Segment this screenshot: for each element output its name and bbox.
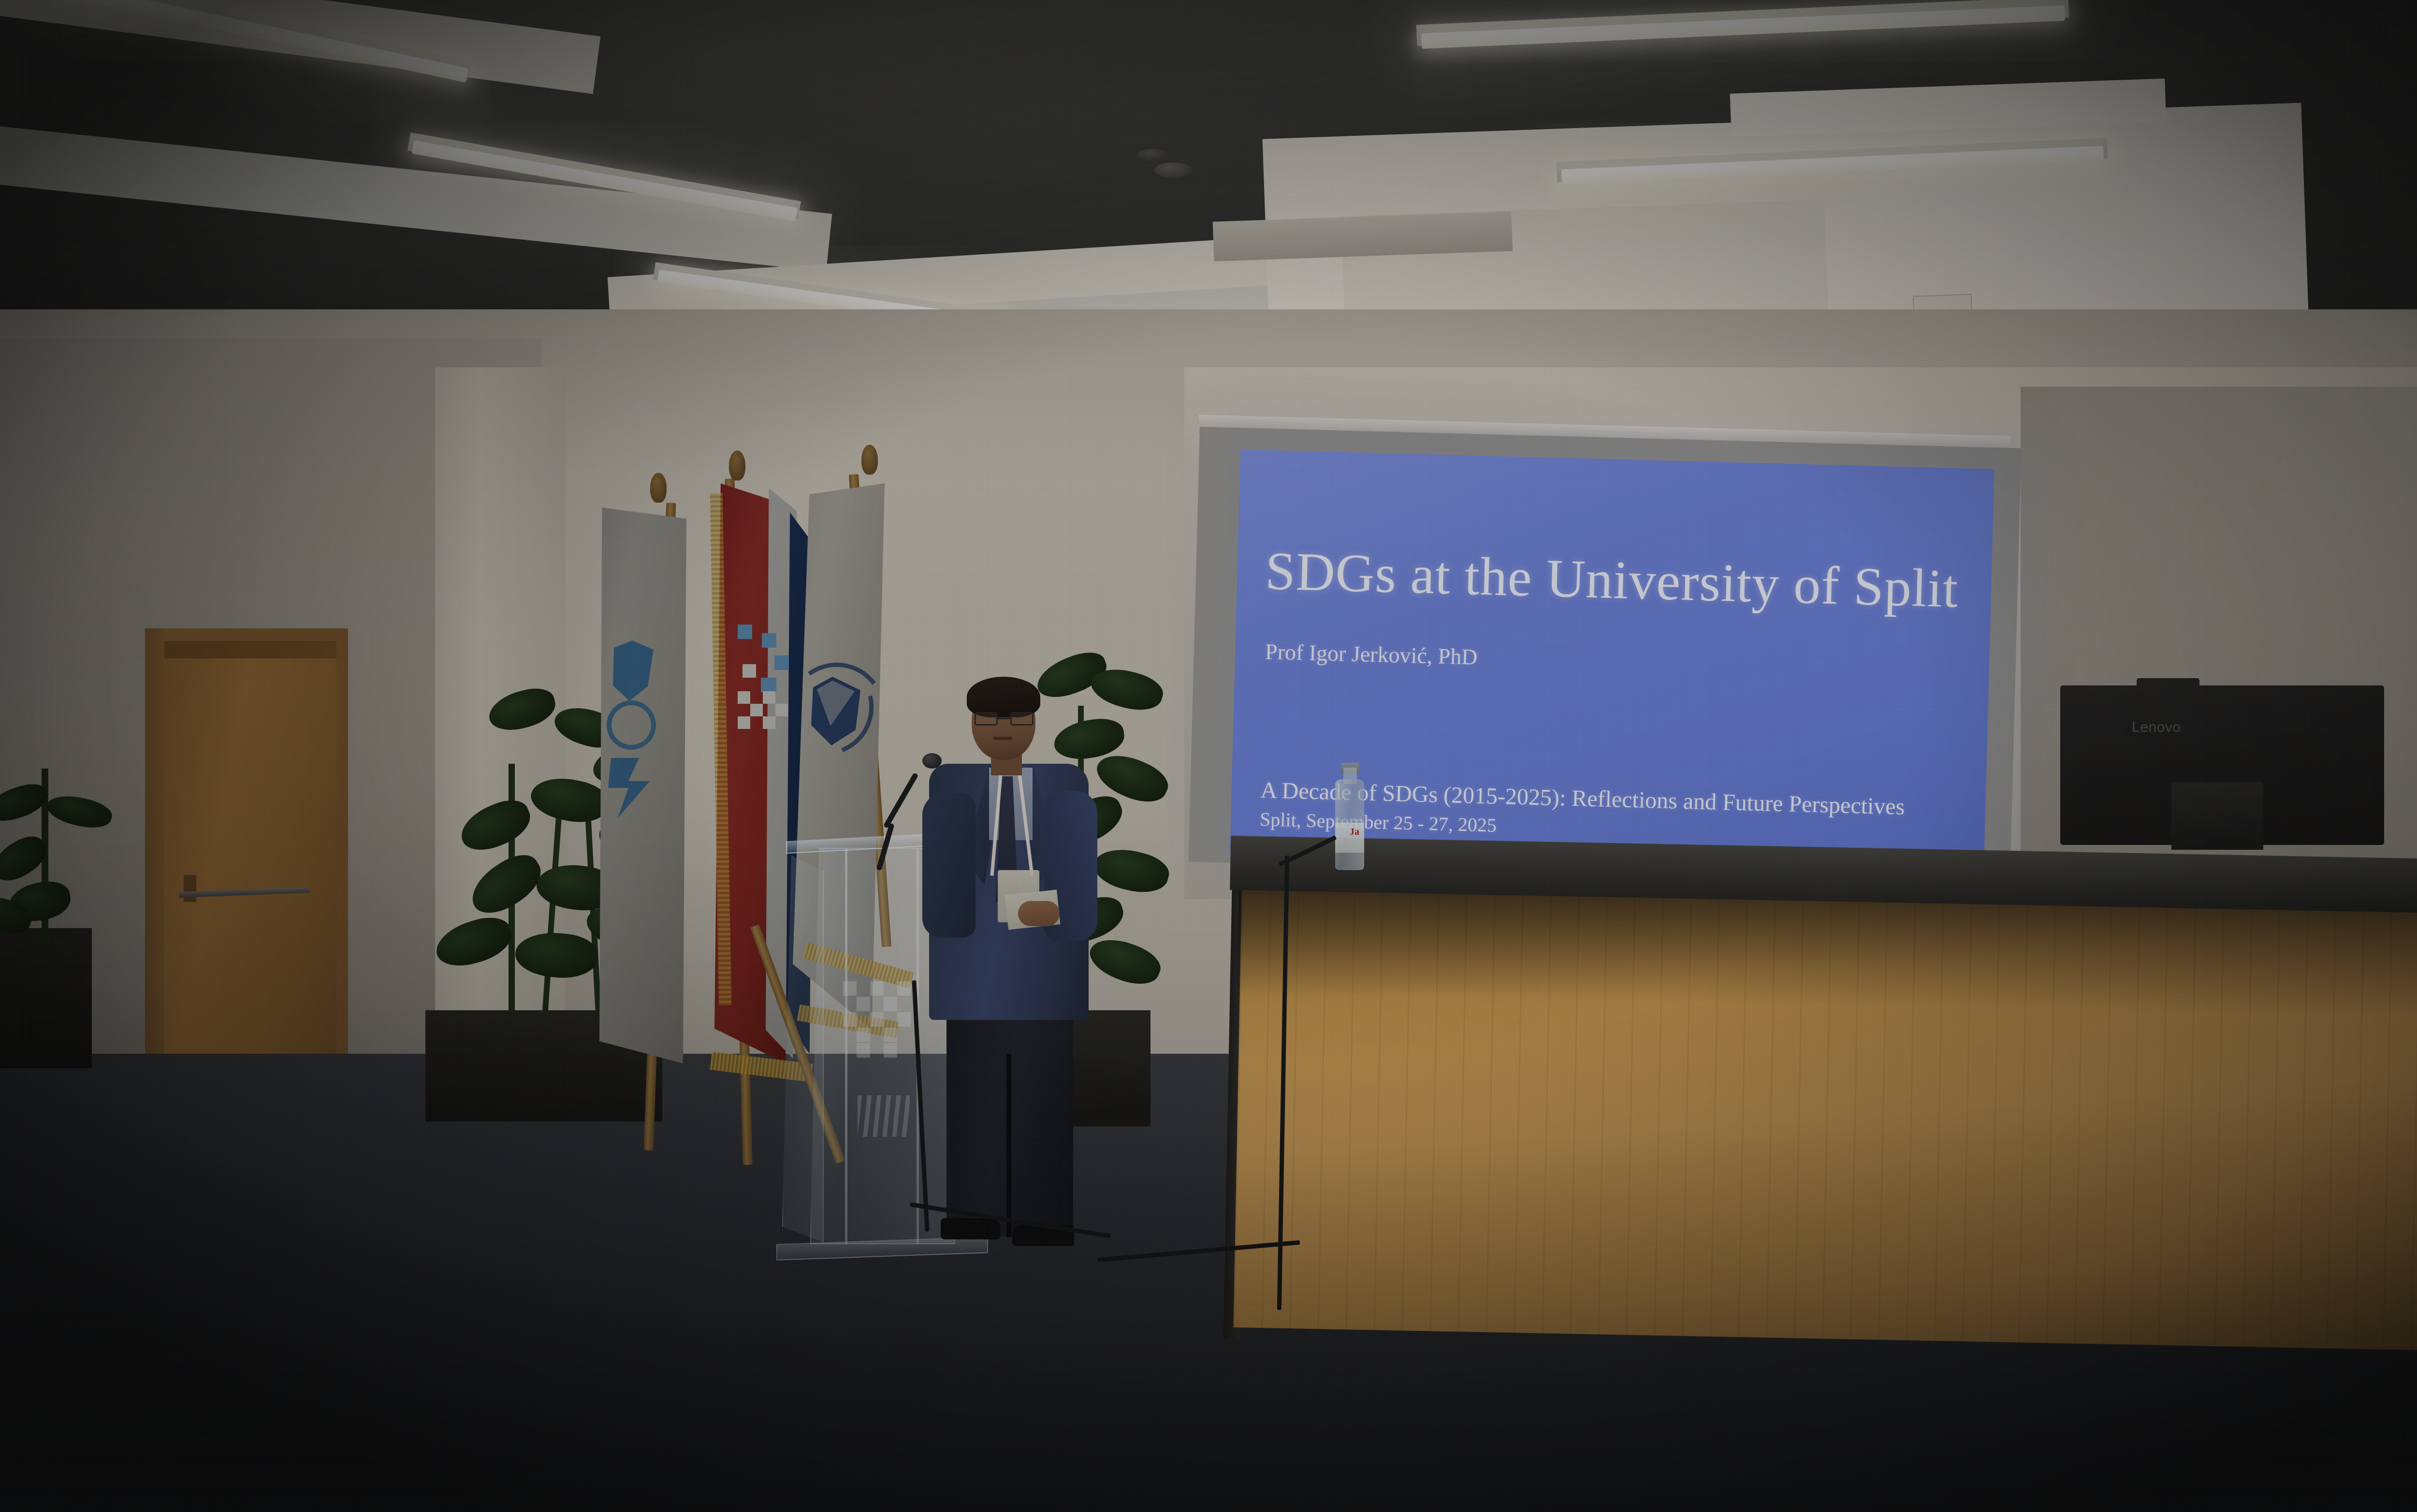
lecture-hall-photo: SDGs at the University of Split Prof Igo… <box>0 0 2417 1512</box>
smoke-detector-icon <box>1137 149 1169 161</box>
presenter-hand <box>1018 901 1060 926</box>
flagpole-finial-2 <box>729 451 745 480</box>
presenter-mouth <box>993 737 1012 740</box>
flagpole-finial-3 <box>861 445 878 475</box>
flag-faculty-emblem-icon <box>798 643 889 807</box>
flag-croatia-coat-of-arms-icon <box>720 614 807 759</box>
monitor-brand-label: Lenovo <box>2132 719 2228 736</box>
podium-lower-emblem-icon <box>858 1095 910 1137</box>
flag-university-split-emblem <box>603 628 671 831</box>
water-bottle-label: Ja <box>1335 823 1364 853</box>
monitor-stand <box>2171 782 2263 850</box>
door-bar-mount <box>184 875 196 902</box>
podium-base <box>776 1236 988 1260</box>
slide-title: SDGs at the University of Split <box>1265 540 1967 621</box>
side-exit-door[interactable] <box>145 628 348 1097</box>
slide-conference-date: Split, September 25 - 27, 2025 <box>1260 808 1497 837</box>
planter-box-left <box>0 928 92 1068</box>
presenter-shoe-left <box>941 1218 1001 1239</box>
presenter-hair <box>967 677 1040 717</box>
slide-author: Prof Igor Jerković, PhD <box>1265 639 1478 669</box>
water-bottle-brand: Ja <box>1350 827 1359 838</box>
glasses-icon <box>975 712 1034 727</box>
flagpole-finial-1 <box>650 473 667 503</box>
podium-crest-icon <box>843 981 924 1073</box>
presenter-arm-left <box>922 793 976 938</box>
smoke-detector-icon <box>1154 162 1192 178</box>
presenter-leg-gap <box>1006 1054 1011 1237</box>
door-leaf <box>164 641 336 1097</box>
door-top-rail <box>164 641 336 658</box>
